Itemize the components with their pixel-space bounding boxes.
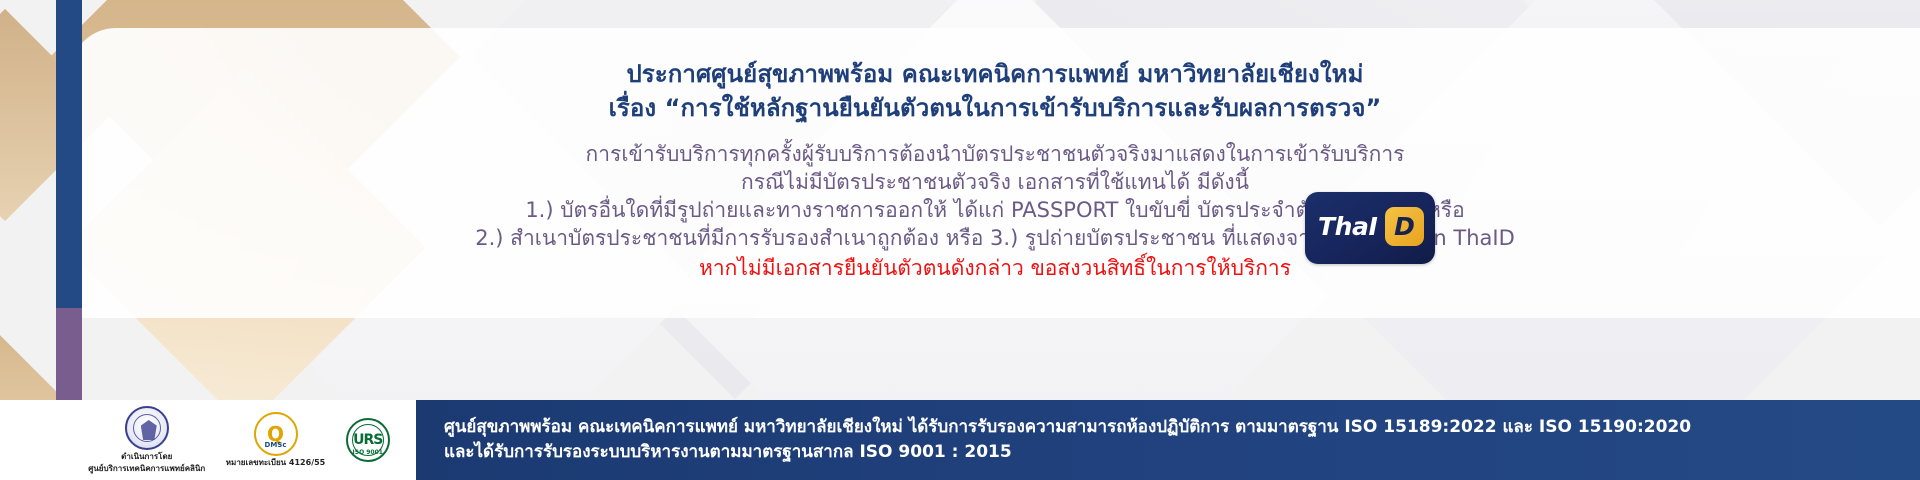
urs-registrar-seal-icon: URS ISO 9001 (346, 418, 390, 462)
footer-logo-caption-line-1: ดำเนินการโดย (121, 452, 172, 462)
dmsc-seal-sub: DMSc (256, 441, 296, 449)
announcement-title-line-2: เรื่อง “การใช้หลักฐานยืนยันตัวตนในการเข้… (609, 92, 1382, 124)
thaid-wordmark: ThaI (1318, 212, 1377, 241)
footer-bar: ดำเนินการโดย ศูนย์บริการเทคนิคการแพทย์คล… (56, 400, 1920, 480)
footer-text-block: ศูนย์สุขภาพพร้อม คณะเทคนิคการแพทย์ มหาวิ… (416, 400, 1920, 480)
footer-logo-strip: ดำเนินการโดย ศูนย์บริการเทคนิคการแพทย์คล… (56, 400, 416, 480)
footer-logo-caption-line-1: หมายเลขทะเบียน 4126/55 (226, 458, 325, 468)
footer-text-line-2: และได้รับการรับรองระบบบริหารงานตามมาตรฐา… (444, 440, 1920, 465)
accent-bar-blue (56, 0, 82, 310)
urs-seal-letter: URS (353, 433, 382, 447)
announcement-body-line-1: การเข้ารับบริการทุกครั้งผู้รับบริการต้อง… (586, 140, 1405, 168)
lab-accreditation-seal-icon (125, 406, 169, 450)
thaid-letter-d: D (1385, 207, 1424, 246)
footer-left-spacer (0, 400, 56, 480)
footer-logo-item: ดำเนินการโดย ศูนย์บริการเทคนิคการแพทย์คล… (88, 406, 205, 474)
urs-seal-sub: ISO 9001 (348, 449, 388, 456)
announcement-body-line-2: กรณีไม่มีบัตรประชาชนตัวจริง เอกสารที่ใช้… (741, 168, 1249, 196)
announcement-warning-line: หากไม่มีเอกสารยืนยันตัวตนดังกล่าว ขอสงวน… (699, 254, 1291, 282)
announcement-content: ประกาศศูนย์สุขภาพพร้อม คณะเทคนิคการแพทย์… (70, 28, 1920, 320)
footer-logo-item: URS ISO 9001 (346, 418, 390, 462)
dmsc-quality-seal-icon: Q DMSc (254, 412, 298, 456)
footer-logo-caption-line-2: ศูนย์บริการเทคนิคการแพทย์คลินิก (88, 464, 205, 474)
announcement-title-line-1: ประกาศศูนย์สุขภาพพร้อม คณะเทคนิคการแพทย์… (626, 58, 1363, 90)
announcement-banner: ประกาศศูนย์สุขภาพพร้อม คณะเทคนิคการแพทย์… (0, 0, 1920, 480)
footer-logo-item: Q DMSc หมายเลขทะเบียน 4126/55 (226, 412, 325, 468)
thaid-logo-badge: ThaI D (1305, 192, 1435, 264)
footer-text-line-1: ศูนย์สุขภาพพร้อม คณะเทคนิคการแพทย์ มหาวิ… (444, 415, 1920, 440)
